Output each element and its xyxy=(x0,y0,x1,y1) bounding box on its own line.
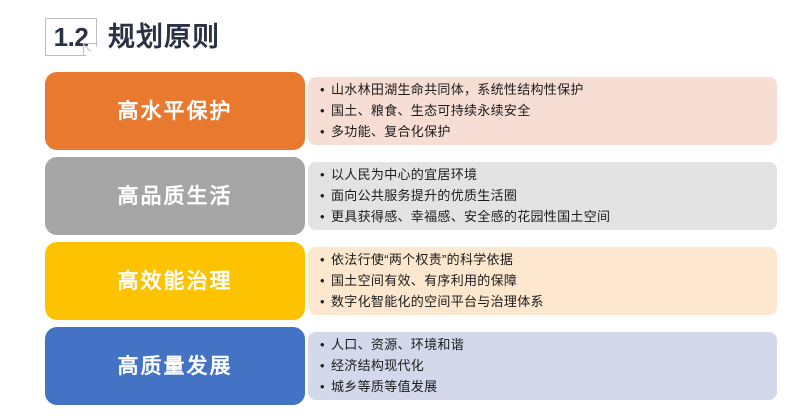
principle-label-box[interactable]: 高质量发展 xyxy=(45,327,305,405)
bullet-item: •城乡等质等值发展 xyxy=(320,379,777,395)
principle-detail-panel: •以人民为中心的宜居环境•面向公共服务提升的优质生活圈•更具获得感、幸福感、安全… xyxy=(308,162,777,230)
principle-row: •人口、资源、环境和谐•经济结构现代化•城乡等质等值发展高质量发展 xyxy=(0,327,808,405)
bullet-item: •经济结构现代化 xyxy=(320,358,777,374)
bullet-dot-icon: • xyxy=(320,294,331,310)
bullet-item: •以人民为中心的宜居环境 xyxy=(320,167,777,183)
bullet-item: •人口、资源、环境和谐 xyxy=(320,337,777,353)
bullet-text: 多功能、复合化保护 xyxy=(331,124,451,140)
principle-rows: •山水林田湖生命共同体，系统性结构性保护•国土、粮食、生态可持续永续安全•多功能… xyxy=(0,72,808,412)
bullet-text: 国土空间有效、有序利用的保障 xyxy=(331,273,517,289)
principle-label-box[interactable]: 高品质生活 xyxy=(45,157,305,235)
slide-title: 1.2 规划原则 xyxy=(45,16,220,58)
bullet-dot-icon: • xyxy=(320,82,331,98)
bullet-text: 城乡等质等值发展 xyxy=(331,379,437,395)
bullet-dot-icon: • xyxy=(320,273,331,289)
bullet-item: •面向公共服务提升的优质生活圈 xyxy=(320,188,777,204)
principle-label-text: 高效能治理 xyxy=(118,271,233,292)
bullet-dot-icon: • xyxy=(320,103,331,119)
bullet-text: 国土、粮食、生态可持续永续安全 xyxy=(331,103,531,119)
principle-label-text: 高质量发展 xyxy=(118,356,233,377)
principle-detail-panel: •人口、资源、环境和谐•经济结构现代化•城乡等质等值发展 xyxy=(308,332,777,400)
principle-row: •依法行使“两个权责”的科学依据•国土空间有效、有序利用的保障•数字化智能化的空… xyxy=(0,242,808,320)
principle-label-text: 高品质生活 xyxy=(118,186,233,207)
bullet-text: 经济结构现代化 xyxy=(331,358,424,374)
bullet-item: •山水林田湖生命共同体，系统性结构性保护 xyxy=(320,82,777,98)
page-title: 规划原则 xyxy=(108,24,220,51)
section-number: 1.2 xyxy=(54,24,89,50)
section-number-badge: 1.2 xyxy=(45,18,97,56)
principle-detail-panel: •山水林田湖生命共同体，系统性结构性保护•国土、粮食、生态可持续永续安全•多功能… xyxy=(308,77,777,145)
bullet-text: 更具获得感、幸福感、安全感的花园性国土空间 xyxy=(331,209,610,225)
bullet-item: •更具获得感、幸福感、安全感的花园性国土空间 xyxy=(320,209,777,225)
principle-label-text: 高水平保护 xyxy=(118,101,233,122)
bullet-item: •国土、粮食、生态可持续永续安全 xyxy=(320,103,777,119)
bullet-item: •多功能、复合化保护 xyxy=(320,124,777,140)
principle-row: •山水林田湖生命共同体，系统性结构性保护•国土、粮食、生态可持续永续安全•多功能… xyxy=(0,72,808,150)
bullet-item: •国土空间有效、有序利用的保障 xyxy=(320,273,777,289)
bullet-text: 以人民为中心的宜居环境 xyxy=(331,167,477,183)
bullet-dot-icon: • xyxy=(320,188,331,204)
bullet-dot-icon: • xyxy=(320,252,331,268)
bullet-dot-icon: • xyxy=(320,124,331,140)
bullet-text: 依法行使“两个权责”的科学依据 xyxy=(331,252,513,268)
bullet-item: •数字化智能化的空间平台与治理体系 xyxy=(320,294,777,310)
principle-detail-panel: •依法行使“两个权责”的科学依据•国土空间有效、有序利用的保障•数字化智能化的空… xyxy=(308,247,777,315)
bullet-dot-icon: • xyxy=(320,379,331,395)
bullet-text: 人口、资源、环境和谐 xyxy=(331,337,464,353)
bullet-text: 面向公共服务提升的优质生活圈 xyxy=(331,188,517,204)
principle-label-box[interactable]: 高效能治理 xyxy=(45,242,305,320)
bullet-dot-icon: • xyxy=(320,337,331,353)
bullet-dot-icon: • xyxy=(320,167,331,183)
bullet-item: •依法行使“两个权责”的科学依据 xyxy=(320,252,777,268)
principle-row: •以人民为中心的宜居环境•面向公共服务提升的优质生活圈•更具获得感、幸福感、安全… xyxy=(0,157,808,235)
bullet-dot-icon: • xyxy=(320,209,331,225)
bullet-text: 数字化智能化的空间平台与治理体系 xyxy=(331,294,544,310)
principle-label-box[interactable]: 高水平保护 xyxy=(45,72,305,150)
bullet-text: 山水林田湖生命共同体，系统性结构性保护 xyxy=(331,82,584,98)
bullet-dot-icon: • xyxy=(320,358,331,374)
